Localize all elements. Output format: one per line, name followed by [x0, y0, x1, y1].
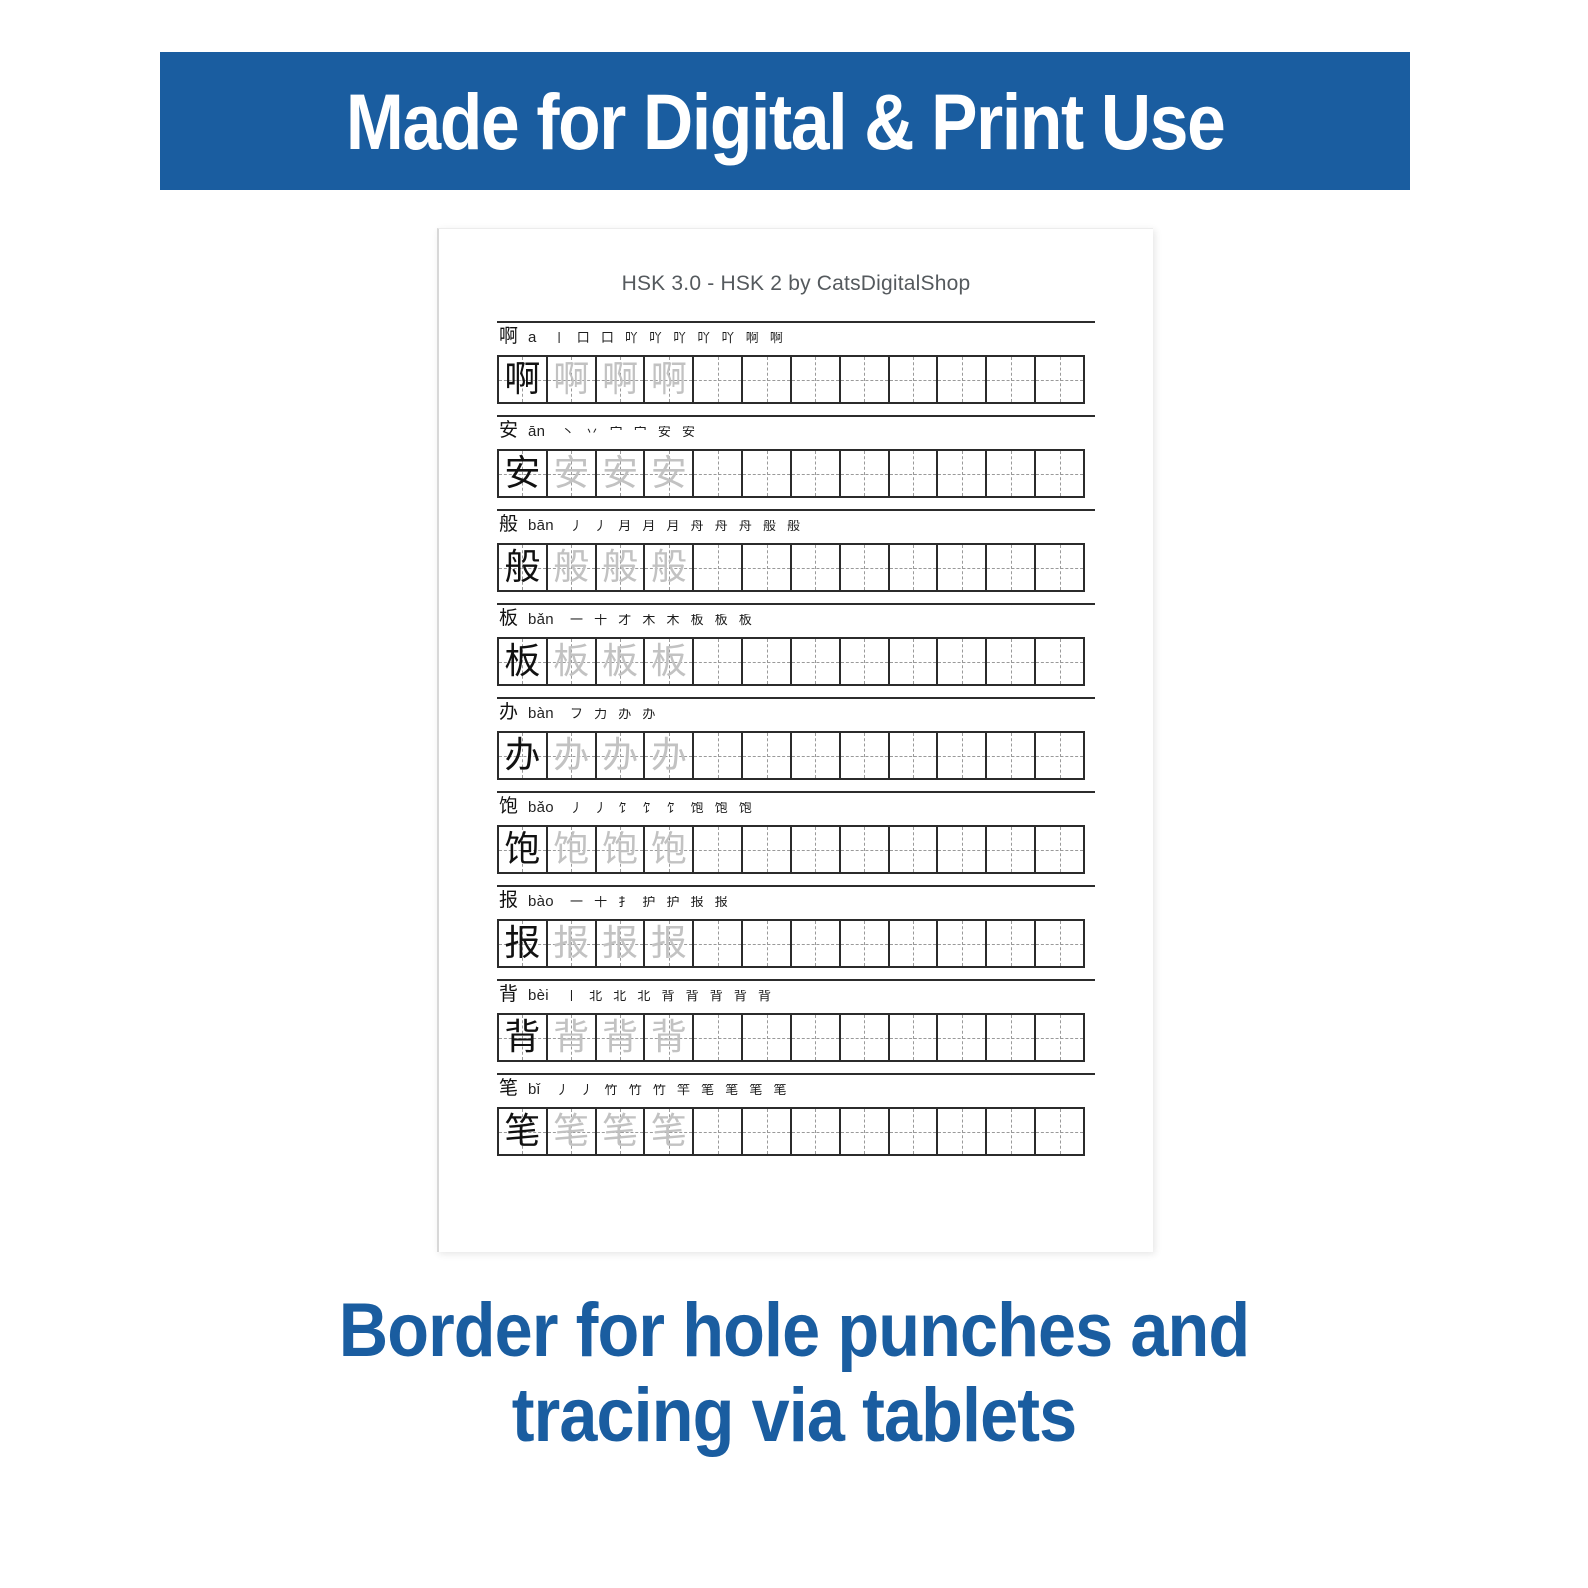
tracing-grid: 般般般般 [497, 543, 1085, 592]
tracing-cell[interactable]: 饱 [548, 827, 597, 872]
row-pinyin-label: bǐ [528, 1081, 540, 1098]
tracing-cell[interactable] [938, 545, 987, 590]
character-practice-row: 报bào一 十 扌 护 护 报 报报报报报 [497, 880, 1095, 968]
tracing-cell[interactable] [841, 733, 890, 778]
stroke-order-sequence: 丿 丿 竹 竹 竹 竿 笔 笔 笔 笔 [556, 1084, 790, 1097]
row-divider [497, 509, 1095, 511]
model-character: 报 [499, 921, 546, 966]
model-character: 安 [499, 451, 546, 496]
tracing-cell[interactable] [694, 545, 743, 590]
model-character: 饱 [499, 827, 546, 872]
row-character-label: 报 [499, 891, 518, 910]
row-pinyin-label: a [528, 329, 537, 346]
tracing-cell[interactable]: 饱 [645, 827, 694, 872]
tracing-cell[interactable]: 背 [645, 1015, 694, 1060]
tracing-cell[interactable]: 板 [499, 639, 548, 684]
tracing-cell[interactable] [743, 1015, 792, 1060]
model-character: 板 [499, 639, 546, 684]
tracing-cell[interactable] [890, 733, 939, 778]
stroke-order-sequence: 丶 丷 宀 宀 安 安 [561, 426, 698, 439]
row-pinyin-label: ān [528, 423, 545, 440]
feature-caption: Border for hole punches and tracing via … [0, 1288, 1588, 1458]
tracing-cell[interactable] [1036, 451, 1083, 496]
tracing-cell[interactable]: 办 [597, 733, 646, 778]
character-practice-row: 背bèi丨 北 北 北 背 背 背 背 背背背背背 [497, 974, 1095, 1062]
tracing-cell[interactable] [841, 451, 890, 496]
traced-character: 饱 [548, 827, 595, 872]
traced-character: 办 [645, 733, 692, 778]
tracing-cell[interactable]: 安 [499, 451, 548, 496]
row-character-label: 笔 [499, 1079, 518, 1098]
row-character-label: 板 [499, 609, 518, 628]
tracing-cell[interactable] [743, 545, 792, 590]
row-header: 报bào一 十 扌 护 护 报 报 [497, 891, 1095, 917]
stroke-order-sequence: 丨 口 口 吖 吖 吖 吖 吖 啊 啊 [553, 332, 787, 345]
row-header: 板bǎn一 十 才 木 木 板 板 板 [497, 609, 1095, 635]
tracing-cell[interactable] [743, 1109, 792, 1154]
tracing-grid: 啊啊啊啊 [497, 355, 1085, 404]
tracing-cell[interactable] [841, 545, 890, 590]
tracing-cell[interactable]: 笔 [645, 1109, 694, 1154]
tracing-cell[interactable]: 板 [597, 639, 646, 684]
tracing-cell[interactable]: 办 [499, 733, 548, 778]
stroke-order-sequence: 丿 丿 月 月 月 舟 舟 舟 般 般 [570, 520, 804, 533]
tracing-grid: 板板板板 [497, 637, 1085, 686]
tracing-cell[interactable] [694, 639, 743, 684]
worksheet-page-preview: HSK 3.0 - HSK 2 by CatsDigitalShop 啊a丨 口… [437, 228, 1153, 1252]
tracing-cell[interactable] [1036, 733, 1083, 778]
tracing-cell[interactable] [890, 545, 939, 590]
tracing-cell[interactable] [743, 451, 792, 496]
tracing-cell[interactable] [1036, 921, 1083, 966]
traced-character: 饱 [597, 827, 644, 872]
tracing-grid: 安安安安 [497, 449, 1085, 498]
tracing-cell[interactable] [792, 827, 841, 872]
tracing-cell[interactable]: 笔 [548, 1109, 597, 1154]
tracing-cell[interactable] [938, 639, 987, 684]
tracing-cell[interactable] [792, 733, 841, 778]
tracing-cell[interactable] [938, 357, 987, 402]
tracing-cell[interactable] [987, 921, 1036, 966]
tracing-cell[interactable]: 背 [597, 1015, 646, 1060]
row-divider [497, 603, 1095, 605]
tracing-cell[interactable] [792, 357, 841, 402]
traced-character: 报 [597, 921, 644, 966]
tracing-cell[interactable] [1036, 827, 1083, 872]
tracing-cell[interactable] [938, 827, 987, 872]
stroke-order-sequence: 一 十 扌 护 护 报 报 [570, 896, 731, 909]
tracing-cell[interactable] [694, 1015, 743, 1060]
tracing-cell[interactable] [743, 639, 792, 684]
row-divider [497, 321, 1095, 323]
tracing-cell[interactable]: 笔 [499, 1109, 548, 1154]
row-pinyin-label: bèi [528, 987, 549, 1004]
character-practice-row: 办bànフ 力 办 办办办办办 [497, 692, 1095, 780]
traced-character: 般 [597, 545, 644, 590]
traced-character: 安 [597, 451, 644, 496]
traced-character: 背 [645, 1015, 692, 1060]
tracing-cell[interactable] [987, 1015, 1036, 1060]
character-practice-row: 板bǎn一 十 才 木 木 板 板 板板板板板 [497, 598, 1095, 686]
tracing-cell[interactable] [743, 357, 792, 402]
tracing-cell[interactable] [987, 1109, 1036, 1154]
tracing-cell[interactable]: 笔 [597, 1109, 646, 1154]
tracing-cell[interactable] [792, 1015, 841, 1060]
tracing-cell[interactable] [743, 827, 792, 872]
tracing-cell[interactable]: 啊 [499, 357, 548, 402]
tracing-cell[interactable] [1036, 545, 1083, 590]
tracing-cell[interactable] [743, 921, 792, 966]
tracing-cell[interactable]: 办 [548, 733, 597, 778]
stroke-order-sequence: 丿 丿 饣 饣 饣 饱 饱 饱 [570, 802, 755, 815]
promo-banner: Made for Digital & Print Use [160, 52, 1410, 190]
traced-character: 板 [645, 639, 692, 684]
tracing-cell[interactable] [841, 1015, 890, 1060]
tracing-cell[interactable] [1036, 357, 1083, 402]
tracing-cell[interactable] [890, 827, 939, 872]
tracing-cell[interactable] [841, 357, 890, 402]
traced-character: 报 [645, 921, 692, 966]
tracing-cell[interactable]: 般 [597, 545, 646, 590]
row-divider [497, 979, 1095, 981]
traced-character: 笔 [548, 1109, 595, 1154]
tracing-grid: 笔笔笔笔 [497, 1107, 1085, 1156]
tracing-cell[interactable]: 报 [645, 921, 694, 966]
tracing-cell[interactable] [694, 451, 743, 496]
tracing-cell[interactable]: 背 [499, 1015, 548, 1060]
model-character: 般 [499, 545, 546, 590]
tracing-cell[interactable]: 般 [548, 545, 597, 590]
stroke-order-sequence: 丨 北 北 北 背 背 背 背 背 [565, 990, 775, 1003]
model-character: 笔 [499, 1109, 546, 1154]
tracing-cell[interactable] [938, 1109, 987, 1154]
row-divider [497, 415, 1095, 417]
tracing-cell[interactable]: 报 [597, 921, 646, 966]
row-header: 笔bǐ丿 丿 竹 竹 竹 竿 笔 笔 笔 笔 [497, 1079, 1095, 1105]
row-pinyin-label: bǎn [528, 611, 554, 628]
tracing-cell[interactable]: 啊 [597, 357, 646, 402]
tracing-cell[interactable]: 安 [645, 451, 694, 496]
traced-character: 饱 [645, 827, 692, 872]
tracing-cell[interactable] [841, 639, 890, 684]
tracing-cell[interactable]: 办 [645, 733, 694, 778]
row-header: 般bān丿 丿 月 月 月 舟 舟 舟 般 般 [497, 515, 1095, 541]
worksheet-title: HSK 3.0 - HSK 2 by CatsDigitalShop [439, 272, 1153, 296]
model-character: 办 [499, 733, 546, 778]
row-character-label: 饱 [499, 797, 518, 816]
feature-caption-line-1: Border for hole punches and [79, 1288, 1508, 1373]
tracing-cell[interactable] [938, 1015, 987, 1060]
tracing-cell[interactable] [694, 1109, 743, 1154]
stroke-order-sequence: 一 十 才 木 木 板 板 板 [570, 614, 755, 627]
tracing-cell[interactable] [987, 733, 1036, 778]
tracing-cell[interactable] [890, 921, 939, 966]
row-header: 办bànフ 力 办 办 [497, 703, 1095, 729]
traced-character: 报 [548, 921, 595, 966]
tracing-cell[interactable] [890, 1015, 939, 1060]
feature-caption-line-2: tracing via tablets [79, 1373, 1508, 1458]
tracing-grid: 背背背背 [497, 1013, 1085, 1062]
model-character: 啊 [499, 357, 546, 402]
traced-character: 般 [645, 545, 692, 590]
tracing-cell[interactable] [890, 1109, 939, 1154]
character-practice-row: 饱bǎo丿 丿 饣 饣 饣 饱 饱 饱饱饱饱饱 [497, 786, 1095, 874]
tracing-cell[interactable]: 般 [645, 545, 694, 590]
promo-banner-text: Made for Digital & Print Use [346, 82, 1225, 161]
row-divider [497, 697, 1095, 699]
traced-character: 背 [548, 1015, 595, 1060]
traced-character: 啊 [645, 357, 692, 402]
tracing-cell[interactable]: 啊 [548, 357, 597, 402]
traced-character: 啊 [548, 357, 595, 402]
tracing-cell[interactable] [987, 545, 1036, 590]
tracing-cell[interactable]: 背 [548, 1015, 597, 1060]
tracing-cell[interactable]: 板 [548, 639, 597, 684]
row-character-label: 般 [499, 515, 518, 534]
tracing-cell[interactable] [890, 357, 939, 402]
character-practice-row: 般bān丿 丿 月 月 月 舟 舟 舟 般 般般般般般 [497, 504, 1095, 592]
traced-character: 安 [548, 451, 595, 496]
tracing-cell[interactable] [890, 451, 939, 496]
row-header: 背bèi丨 北 北 北 背 背 背 背 背 [497, 985, 1095, 1011]
tracing-cell[interactable]: 般 [499, 545, 548, 590]
tracing-cell[interactable] [694, 921, 743, 966]
traced-character: 安 [645, 451, 692, 496]
tracing-cell[interactable] [743, 733, 792, 778]
character-practice-row: 啊a丨 口 口 吖 吖 吖 吖 吖 啊 啊啊啊啊啊 [497, 316, 1095, 404]
character-practice-row: 安ān丶 丷 宀 宀 安 安安安安安 [497, 410, 1095, 498]
tracing-cell[interactable] [841, 827, 890, 872]
tracing-cell[interactable] [938, 733, 987, 778]
tracing-cell[interactable] [694, 357, 743, 402]
character-rows-container: 啊a丨 口 口 吖 吖 吖 吖 吖 啊 啊啊啊啊啊安ān丶 丷 宀 宀 安 安安… [439, 316, 1153, 1156]
tracing-cell[interactable] [938, 451, 987, 496]
tracing-cell[interactable] [792, 451, 841, 496]
traced-character: 笔 [597, 1109, 644, 1154]
tracing-cell[interactable]: 安 [548, 451, 597, 496]
tracing-cell[interactable] [1036, 1015, 1083, 1060]
tracing-cell[interactable]: 饱 [597, 827, 646, 872]
traced-character: 背 [597, 1015, 644, 1060]
tracing-grid: 办办办办 [497, 731, 1085, 780]
tracing-cell[interactable] [841, 1109, 890, 1154]
tracing-cell[interactable]: 报 [499, 921, 548, 966]
stroke-order-sequence: フ 力 办 办 [570, 708, 659, 721]
row-character-label: 背 [499, 985, 518, 1004]
model-character: 背 [499, 1015, 546, 1060]
row-character-label: 啊 [499, 327, 518, 346]
traced-character: 办 [548, 733, 595, 778]
traced-character: 般 [548, 545, 595, 590]
row-header: 安ān丶 丷 宀 宀 安 安 [497, 421, 1095, 447]
tracing-cell[interactable] [792, 545, 841, 590]
tracing-cell[interactable]: 啊 [645, 357, 694, 402]
tracing-cell[interactable] [987, 357, 1036, 402]
row-divider [497, 791, 1095, 793]
traced-character: 笔 [645, 1109, 692, 1154]
row-pinyin-label: bàn [528, 705, 554, 722]
row-pinyin-label: bān [528, 517, 554, 534]
tracing-cell[interactable] [792, 921, 841, 966]
tracing-cell[interactable] [841, 921, 890, 966]
row-pinyin-label: bào [528, 893, 554, 910]
row-character-label: 办 [499, 703, 518, 722]
traced-character: 啊 [597, 357, 644, 402]
tracing-cell[interactable] [1036, 1109, 1083, 1154]
tracing-cell[interactable]: 报 [548, 921, 597, 966]
tracing-cell[interactable] [890, 639, 939, 684]
tracing-cell[interactable] [694, 733, 743, 778]
tracing-cell[interactable] [792, 639, 841, 684]
tracing-cell[interactable]: 安 [597, 451, 646, 496]
traced-character: 办 [597, 733, 644, 778]
traced-character: 板 [597, 639, 644, 684]
row-divider [497, 885, 1095, 887]
tracing-grid: 报报报报 [497, 919, 1085, 968]
tracing-cell[interactable] [987, 451, 1036, 496]
row-header: 啊a丨 口 口 吖 吖 吖 吖 吖 啊 啊 [497, 327, 1095, 353]
tracing-cell[interactable] [987, 827, 1036, 872]
tracing-cell[interactable] [987, 639, 1036, 684]
row-header: 饱bǎo丿 丿 饣 饣 饣 饱 饱 饱 [497, 797, 1095, 823]
row-divider [497, 1073, 1095, 1075]
row-pinyin-label: bǎo [528, 799, 554, 816]
character-practice-row: 笔bǐ丿 丿 竹 竹 竹 竿 笔 笔 笔 笔笔笔笔笔 [497, 1068, 1095, 1156]
tracing-cell[interactable] [792, 1109, 841, 1154]
tracing-cell[interactable] [938, 921, 987, 966]
tracing-cell[interactable] [694, 827, 743, 872]
tracing-cell[interactable] [1036, 639, 1083, 684]
tracing-grid: 饱饱饱饱 [497, 825, 1085, 874]
traced-character: 板 [548, 639, 595, 684]
tracing-cell[interactable]: 饱 [499, 827, 548, 872]
tracing-cell[interactable]: 板 [645, 639, 694, 684]
row-character-label: 安 [499, 421, 518, 440]
